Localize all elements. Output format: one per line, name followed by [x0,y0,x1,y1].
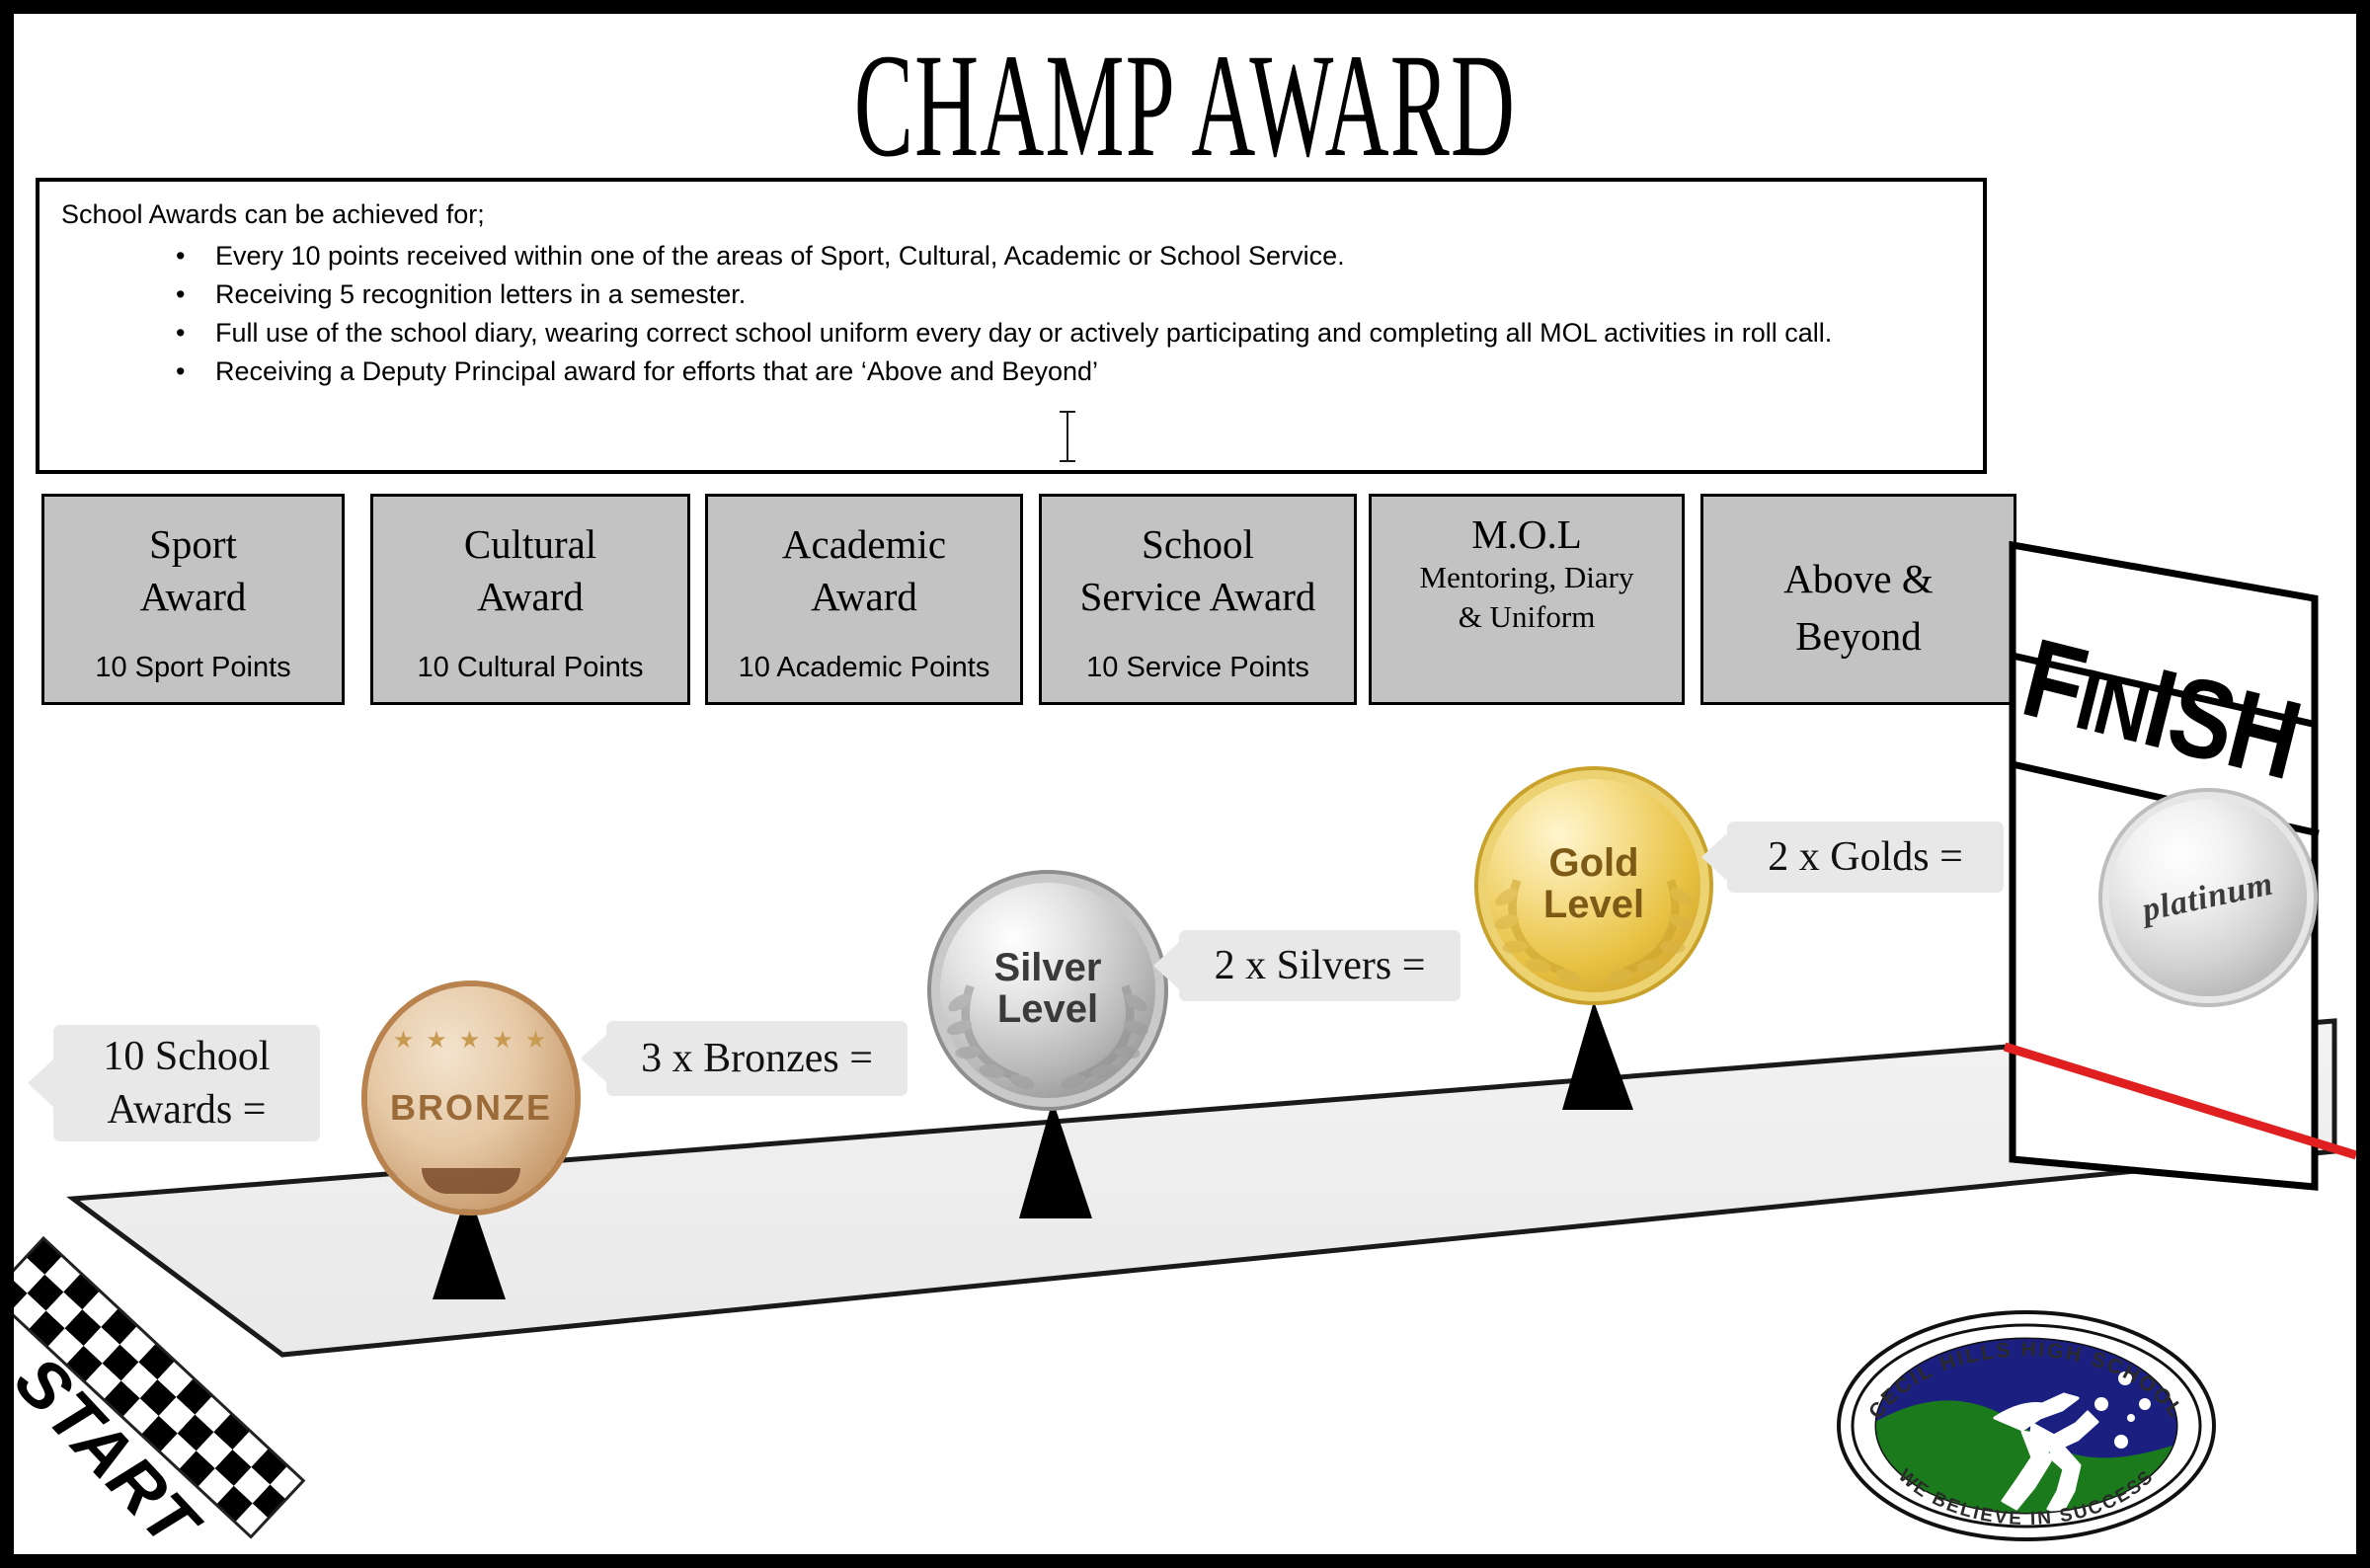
criteria-item: • Receiving a Deputy Principal award for… [156,353,1963,391]
award-box-subtitle: 10 Service Points [1042,652,1354,684]
bullet-icon: • [176,275,185,314]
callout-line: Awards = [103,1083,270,1137]
callout-silvers: 2 x Silvers = [1179,930,1461,1001]
award-box-title: Academic Award [708,518,1020,623]
finish-label: FINISH [2012,614,2312,806]
award-box-mol[interactable]: M.O.L Mentoring, Diary & Uniform [1369,494,1685,705]
callout-line: 2 x Golds = [1768,833,1963,881]
award-box-academic[interactable]: Academic Award 10 Academic Points [705,494,1023,705]
medal-gold: Gold Level [1487,779,1700,992]
criteria-box: School Awards can be achieved for; • Eve… [36,178,1987,474]
award-box-title: M.O.L [1372,510,1682,558]
award-box-subtitle: 10 Sport Points [44,652,342,684]
bullet-icon: • [176,237,185,275]
poster-sheet: CHAMP AWARD School Awards can be achieve… [14,14,2356,1554]
marker-triangle [1562,1001,1633,1110]
callout-tail-icon [1701,832,1728,882]
medal-bronze: ★ ★ ★ ★ ★ BRONZE [367,986,575,1210]
award-box-sport[interactable]: Sport Award 10 Sport Points [41,494,345,705]
callout-tail-icon [581,1034,607,1083]
school-logo-icon: CECIL HILLS HIGH SCHOOL WE BELIEVE IN SU… [1829,1307,2224,1544]
callout-golds: 2 x Golds = [1727,822,2004,893]
award-box-subtitle: 10 Cultural Points [373,652,687,684]
award-box-school-service[interactable]: School Service Award 10 Service Points [1039,494,1357,705]
award-box-above-beyond[interactable]: Above & Beyond [1700,494,2016,705]
callout-tail-icon [28,1058,54,1108]
criteria-item: • Every 10 points received within one of… [156,237,1963,275]
medal-platinum: platinum [2109,799,2307,996]
award-box-subtitle: Mentoring, Diary & Uniform [1372,558,1682,637]
text-cursor-icon [1066,411,1068,462]
poster-page: CHAMP AWARD School Awards can be achieve… [0,0,2370,1568]
callout-tail-icon [1153,941,1180,990]
medal-stars-icon: ★ ★ ★ ★ ★ [367,1026,575,1055]
award-box-title: Sport Award [44,518,342,623]
criteria-item: • Full use of the school diary, wearing … [156,314,1963,353]
callout-line: 2 x Silvers = [1215,942,1426,989]
start-label: START [0,1341,213,1562]
medal-label: Silver Level [940,947,1155,1031]
criteria-item-text: Every 10 points received within one of t… [215,241,1345,271]
award-box-title: Above & Beyond [1703,550,2014,665]
medal-silver: Silver Level [940,883,1155,1098]
criteria-item-text: Receiving a Deputy Principal award for e… [215,356,1098,386]
medal-label: BRONZE [367,1089,575,1127]
callout-line: 10 School [103,1030,270,1083]
callout-line: 3 x Bronzes = [641,1035,873,1082]
award-box-title: Cultural Award [373,518,687,623]
page-title: CHAMP AWARD [482,32,1887,180]
callout-bronzes: 3 x Bronzes = [606,1021,908,1096]
criteria-item-text: Receiving 5 recognition letters in a sem… [215,279,746,309]
bullet-icon: • [176,353,185,391]
start-label-wrap: START [26,1226,450,1542]
criteria-list: • Every 10 points received within one of… [156,237,1963,391]
award-box-cultural[interactable]: Cultural Award 10 Cultural Points [370,494,690,705]
bullet-icon: • [176,314,185,353]
award-box-title: School Service Award [1042,518,1354,623]
medal-ribbon [422,1168,521,1194]
criteria-item-text: Full use of the school diary, wearing co… [215,318,1832,348]
marker-triangle [1019,1100,1092,1218]
criteria-lead: School Awards can be achieved for; [61,199,485,230]
callout-school-awards: 10 School Awards = [53,1025,320,1141]
criteria-item: • Receiving 5 recognition letters in a s… [156,275,1963,314]
medal-label: Gold Level [1487,842,1700,926]
award-box-subtitle: 10 Academic Points [708,652,1020,684]
school-logo: CECIL HILLS HIGH SCHOOL WE BELIEVE IN SU… [1829,1307,2224,1544]
medal-label: platinum [2107,859,2309,937]
